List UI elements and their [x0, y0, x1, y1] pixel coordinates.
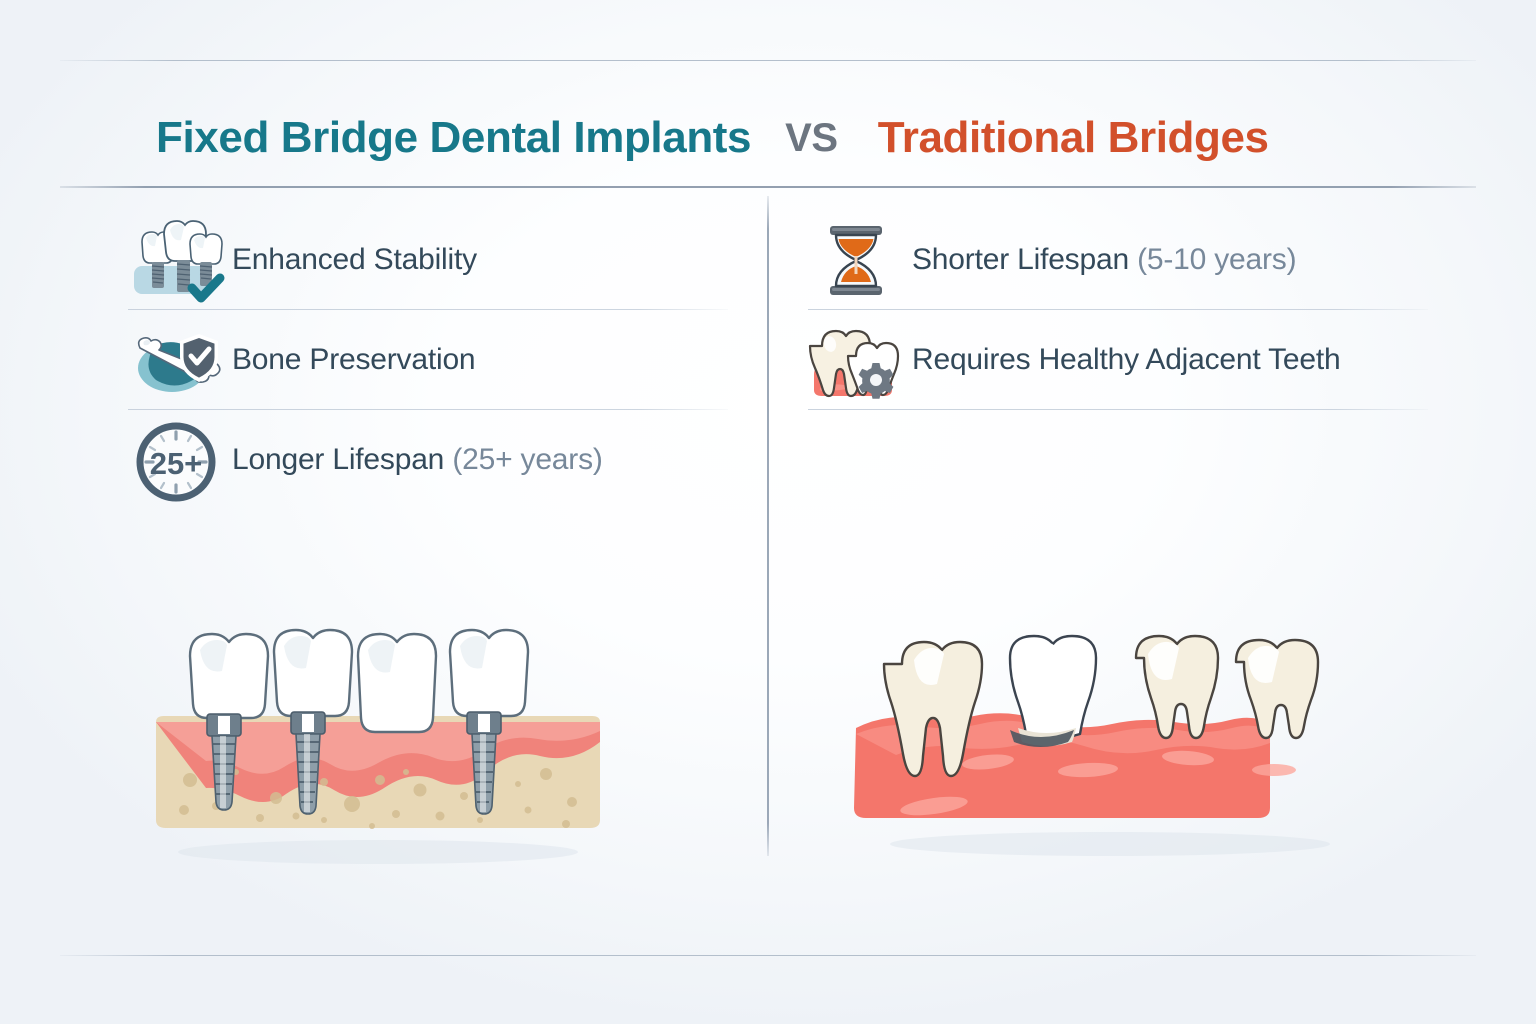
page-title-left: Fixed Bridge Dental Implants — [156, 116, 751, 160]
traditional-bridge-illustration — [838, 610, 1383, 860]
hourglass-icon — [808, 212, 904, 308]
column-divider — [767, 196, 769, 856]
list-item: Shorter Lifespan (5-10 years) — [808, 210, 1428, 310]
right-column: Shorter Lifespan (5-10 years) — [808, 210, 1428, 410]
implant-supported-bridge-illustration — [128, 610, 628, 870]
infographic-canvas: Fixed Bridge Dental Implants VS Traditio… — [0, 0, 1536, 1024]
bone-shield-check-icon — [128, 312, 224, 408]
tooth-gear-icon — [808, 312, 904, 408]
header-divider — [60, 186, 1476, 188]
header: Fixed Bridge Dental Implants VS Traditio… — [0, 96, 1536, 180]
list-item-label: Enhanced Stability — [232, 243, 477, 277]
list-item-label: Requires Healthy Adjacent Teeth — [912, 343, 1341, 377]
list-item-note: (25+ years) — [452, 443, 602, 476]
list-item-label: Longer Lifespan (25+ years) — [232, 443, 603, 477]
three-implants-check-icon — [128, 212, 224, 308]
page-title-right: Traditional Bridges — [878, 116, 1269, 160]
bottom-divider — [60, 955, 1476, 956]
list-item: 25+ Longer Lifespan (25+ years) — [128, 410, 728, 510]
list-item-note: (5-10 years) — [1137, 243, 1296, 276]
list-item: Enhanced Stability — [128, 210, 728, 310]
list-item: Bone Preservation — [128, 310, 728, 410]
vs-label: VS — [785, 118, 838, 158]
list-item-label: Shorter Lifespan (5-10 years) — [912, 243, 1296, 277]
list-item-separator — [808, 409, 1428, 410]
clock-value: 25+ — [150, 446, 203, 481]
list-item: Requires Healthy Adjacent Teeth — [808, 310, 1428, 410]
list-item-label: Bone Preservation — [232, 343, 475, 377]
clock-25plus-icon: 25+ — [128, 412, 224, 508]
top-divider — [60, 60, 1476, 61]
left-column: Enhanced Stability — [128, 210, 728, 510]
